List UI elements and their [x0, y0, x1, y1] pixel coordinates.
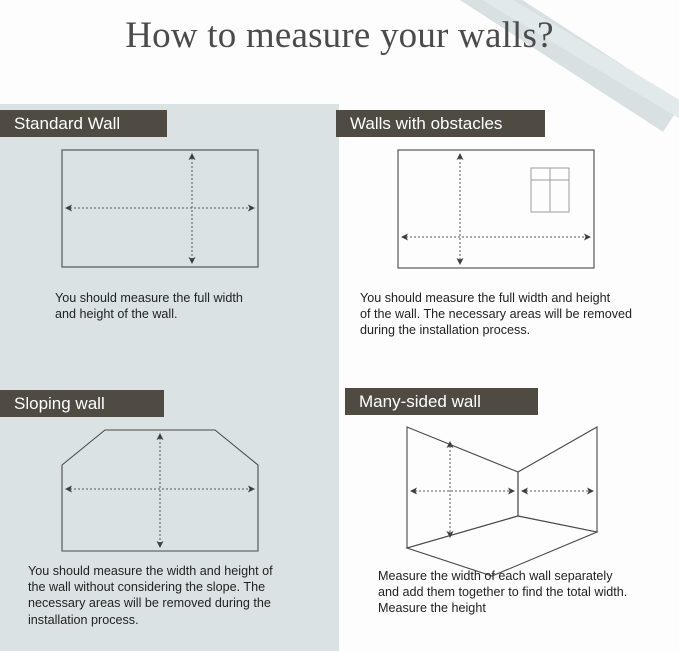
diagram-many-sided-wall	[340, 380, 679, 575]
caption-sloping-wall: You should measure the width and height …	[28, 563, 318, 628]
caption-many-sided-wall: Measure the width of each wall separatel…	[378, 568, 678, 617]
diagram-sloping-wall	[0, 380, 339, 570]
diagram-walls-with-obstacles	[340, 0, 679, 300]
caption-standard-wall: You should measure the full width and he…	[55, 290, 325, 322]
diagram-standard-wall	[0, 0, 339, 300]
caption-walls-with-obstacles: You should measure the full width and he…	[360, 290, 670, 339]
infographic-page: How to measure your walls? Standard Wall…	[0, 0, 679, 651]
